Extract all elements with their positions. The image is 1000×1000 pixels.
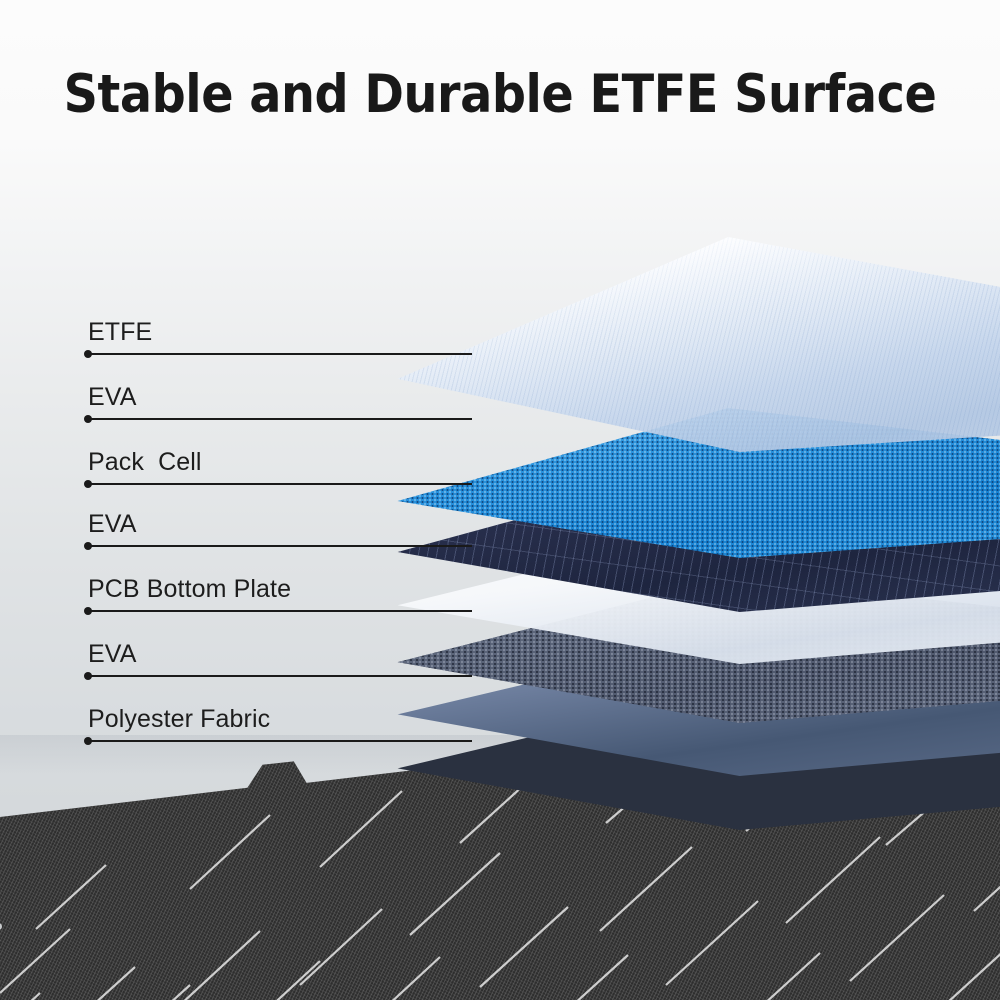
layer-leader-dot-6 xyxy=(84,672,92,680)
layer-leader-dot-7 xyxy=(84,737,92,745)
layer-leader-dot-2 xyxy=(84,415,92,423)
layer-leader-line-7 xyxy=(88,740,472,742)
layer-sheet-etfe xyxy=(390,237,1000,452)
layer-sheet-eva-middle xyxy=(390,524,1000,664)
layer-leader-dot-5 xyxy=(84,607,92,615)
layer-label-4: EVA xyxy=(88,510,136,539)
layer-label-2: EVA xyxy=(88,383,136,412)
layer-label-6: EVA xyxy=(88,640,136,669)
infographic-canvas: Stable and Durable ETFE Surface xyxy=(0,0,1000,1000)
page-title: Stable and Durable ETFE Surface xyxy=(50,64,950,125)
layer-leader-line-6 xyxy=(88,675,472,677)
layer-leader-line-4 xyxy=(88,545,472,547)
layer-leader-line-1 xyxy=(88,353,472,355)
layer-label-7: Polyester Fabric xyxy=(88,705,270,734)
layer-label-5: PCB Bottom Plate xyxy=(88,575,291,604)
layer-leader-dot-4 xyxy=(84,542,92,550)
layer-sheet-pack-cell xyxy=(390,462,1000,612)
layer-sheet-eva-upper xyxy=(390,408,1000,558)
layer-leader-dot-1 xyxy=(84,350,92,358)
layer-sheet-pcb-bottom-plate xyxy=(390,578,1000,723)
layer-leader-line-3 xyxy=(88,483,472,485)
layer-leader-line-2 xyxy=(88,418,472,420)
layer-leader-dot-3 xyxy=(84,480,92,488)
layer-label-1: ETFE xyxy=(88,318,152,347)
layer-label-3: Pack Cell xyxy=(88,448,202,477)
layer-leader-line-5 xyxy=(88,610,472,612)
